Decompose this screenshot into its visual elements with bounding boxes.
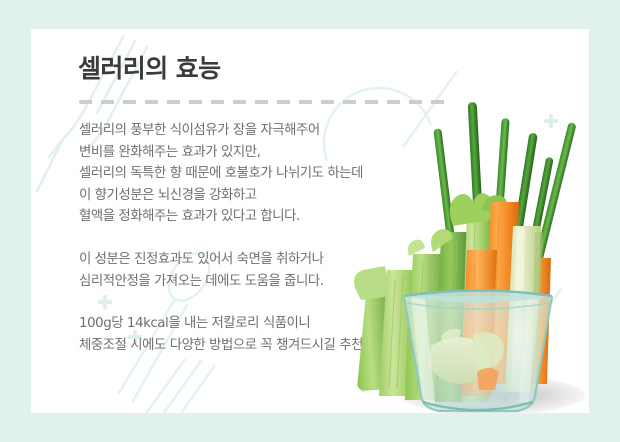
glass-drop-shadow <box>399 375 585 413</box>
body-copy: 셀러리의 풍부한 식이섬유가 장을 자극해주어 변비를 완화해주는 효과가 있지… <box>79 120 409 356</box>
plus-watermark-icon: ✚ <box>451 359 467 378</box>
body-line: 이 향기성분은 뇌신경을 강화하고 <box>79 185 409 207</box>
paragraph-calorie: 100g당 14kcal을 내는 저칼로리 식품이니 체중조절 시에도 다양한 … <box>79 313 409 356</box>
plus-watermark-icon: ✚ <box>543 113 559 132</box>
body-line: 이 성분은 진정효과도 있어서 숙면을 취하거나 <box>79 249 409 271</box>
infographic-card: ✚ ✚ ✚ ✚ ✚ 셀러리의 효능 셀러리의 풍부한 식이섬유가 장을 자극해주… <box>0 0 620 442</box>
body-line: 셀러리의 독특한 향 때문에 호불호가 나뉘기도 하는데 <box>79 163 409 185</box>
paragraph-calming: 이 성분은 진정효과도 있어서 숙면을 취하거나 심리적안정을 가져오는 데에도… <box>79 249 409 292</box>
body-line: 심리적안정을 가져오는 데에도 도움을 줍니다. <box>79 271 409 293</box>
title-divider <box>79 100 451 104</box>
right-lines-watermark-icon <box>431 279 581 399</box>
content-card: ✚ ✚ ✚ ✚ ✚ 셀러리의 효능 셀러리의 풍부한 식이섬유가 장을 자극해주… <box>31 29 589 413</box>
green-onion-stalks <box>433 102 576 320</box>
cucumber-stick <box>505 226 543 392</box>
paragraph-fiber-aroma: 셀러리의 풍부한 식이섬유가 장을 자극해주어 변비를 완화해주는 효과가 있지… <box>79 120 409 228</box>
plus-watermark-icon: ✚ <box>355 377 371 396</box>
body-line: 100g당 14kcal을 내는 저칼로리 식품이니 <box>79 313 409 335</box>
body-line: 혈액을 정화해주는 효과가 있다고 합니다. <box>79 206 409 228</box>
box-watermark-icon <box>435 329 565 413</box>
diagonal-lines-watermark-icon <box>95 359 215 413</box>
body-line: 체중조절 시에도 다양한 방법으로 꼭 챙겨드시길 추천합니다. <box>79 335 409 357</box>
carrot-sticks <box>461 202 551 396</box>
body-line: 변비를 완화해주는 효과가 있지만, <box>79 142 409 164</box>
body-line: 셀러리의 풍부한 식이섬유가 장을 자극해주어 <box>79 120 409 142</box>
page-title: 셀러리의 효능 <box>78 49 221 85</box>
glass-tumbler <box>399 289 559 413</box>
